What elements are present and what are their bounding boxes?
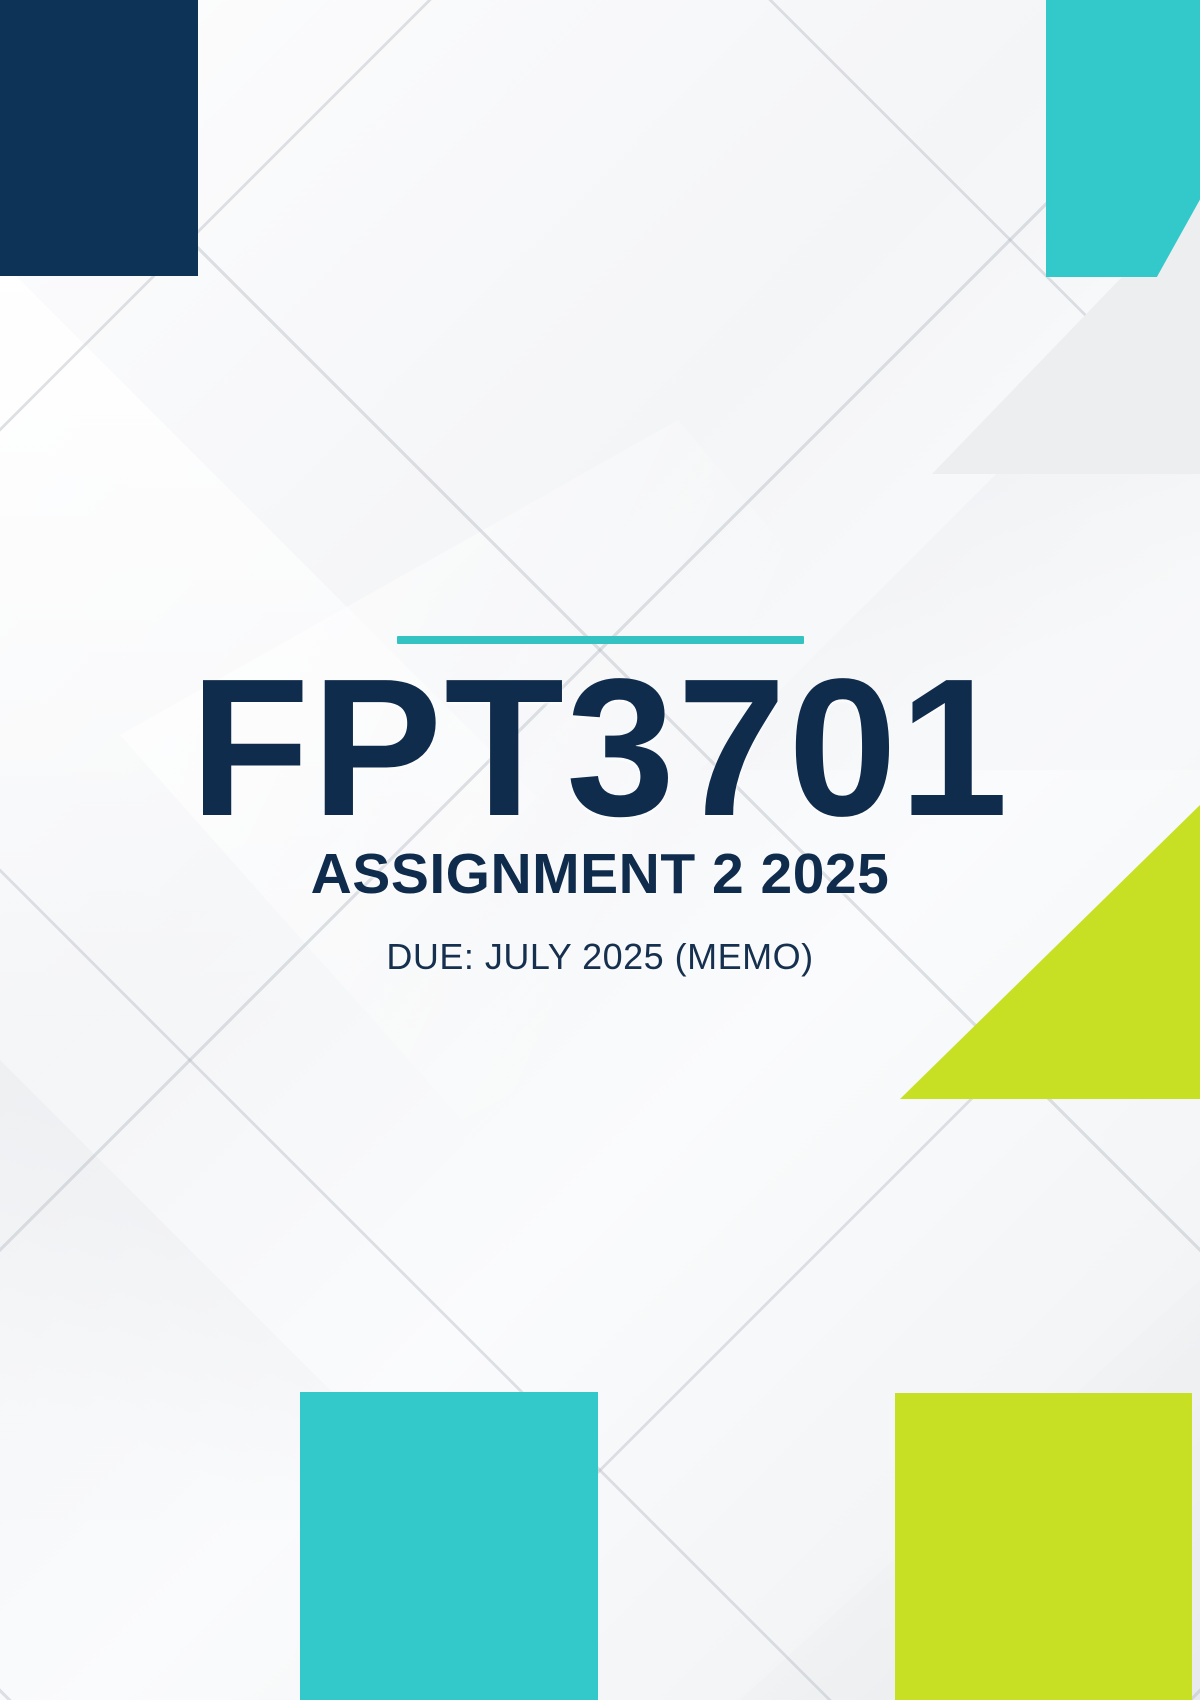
due-date-text: DUE: JULY 2025 (MEMO) bbox=[0, 935, 1200, 978]
teal-square-icon bbox=[300, 1392, 598, 1700]
teal-block-icon bbox=[1046, 0, 1200, 277]
title-block: FPT3701 ASSIGNMENT 2 2025 DUE: JULY 2025… bbox=[0, 636, 1200, 978]
navy-square-icon bbox=[0, 0, 198, 276]
page-title: FPT3701 bbox=[0, 658, 1200, 838]
cover-page: FPT3701 ASSIGNMENT 2 2025 DUE: JULY 2025… bbox=[0, 0, 1200, 1700]
assignment-subtitle: ASSIGNMENT 2 2025 bbox=[0, 844, 1200, 904]
lime-square-icon bbox=[895, 1393, 1192, 1700]
